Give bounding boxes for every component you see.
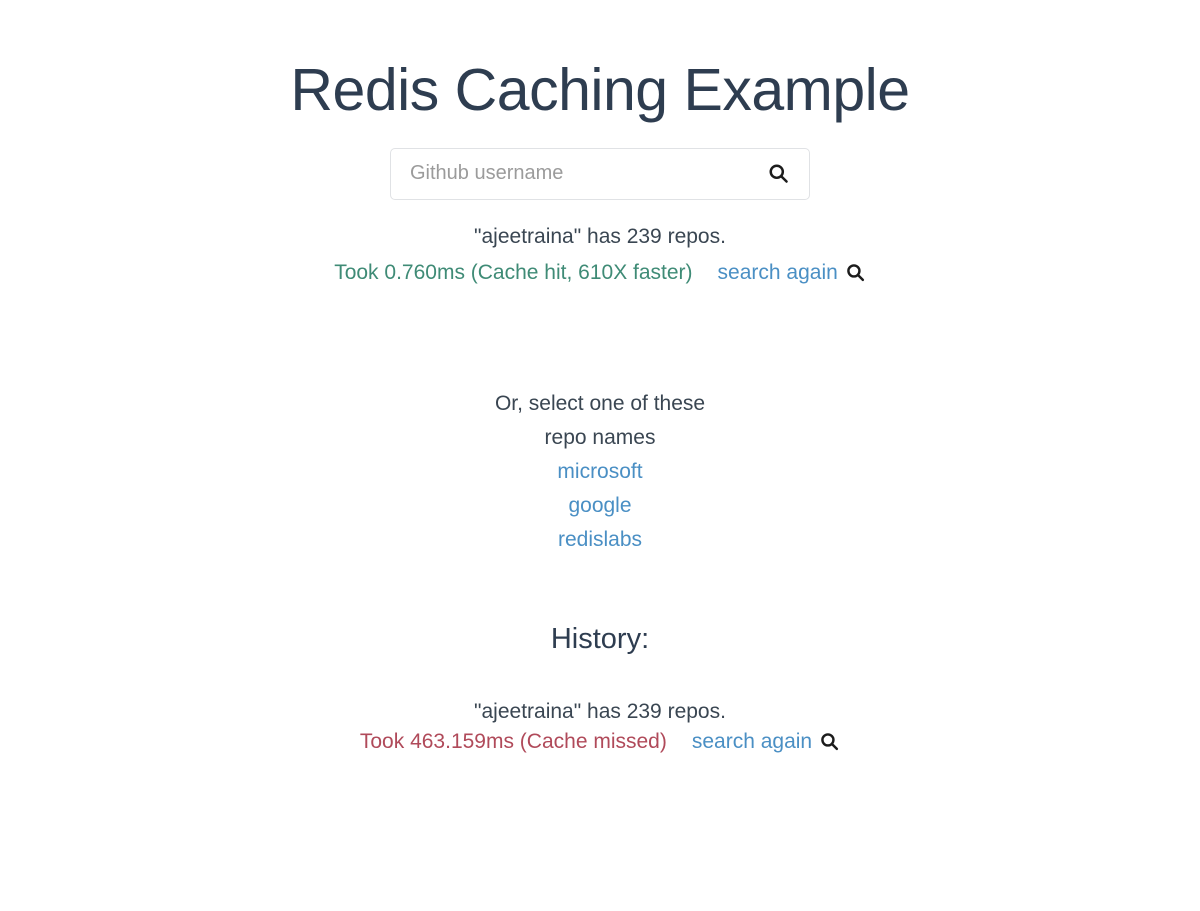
search-result: "ajeetraina" has 239 repos. Took 0.760ms… (334, 222, 866, 288)
repo-suggestions: Or, select one of these repo names micro… (495, 387, 705, 557)
repo-link-microsoft[interactable]: microsoft (557, 460, 642, 483)
history-search-again-link[interactable]: search again (692, 730, 812, 754)
repo-link-redislabs[interactable]: redislabs (558, 528, 642, 551)
list-item: google (495, 489, 705, 523)
suggestions-label-line1: Or, select one of these (495, 387, 705, 421)
repo-link-google[interactable]: google (568, 494, 631, 517)
page-title: Redis Caching Example (290, 58, 909, 123)
search-again-group[interactable]: search again (718, 258, 866, 288)
repo-link-list: microsoft google redislabs (495, 455, 705, 557)
history-timing-row: Took 463.159ms (Cache missed) search aga… (360, 730, 840, 754)
result-timing-row: Took 0.760ms (Cache hit, 610X faster) se… (334, 258, 866, 288)
search-submit-button[interactable] (760, 148, 796, 200)
app-root: Redis Caching Example "ajeetraina" has 2… (0, 0, 1200, 911)
search-icon[interactable] (845, 262, 866, 283)
search-again-link[interactable]: search again (718, 258, 838, 288)
suggestions-label-line2: repo names (495, 421, 705, 455)
search-bar (390, 148, 810, 200)
list-item: microsoft (495, 455, 705, 489)
history-timing: Took 463.159ms (Cache missed) (360, 730, 667, 754)
result-summary: "ajeetraina" has 239 repos. (334, 222, 866, 252)
search-icon[interactable] (819, 731, 840, 752)
result-timing: Took 0.760ms (Cache hit, 610X faster) (334, 258, 692, 288)
list-item: redislabs (495, 523, 705, 557)
history-entry: "ajeetraina" has 239 repos. Took 463.159… (360, 700, 840, 754)
history-heading: History: (551, 623, 649, 656)
history-search-again-group[interactable]: search again (692, 730, 840, 754)
search-input[interactable] (390, 148, 810, 200)
history-summary: "ajeetraina" has 239 repos. (360, 700, 840, 724)
search-icon (767, 162, 790, 185)
